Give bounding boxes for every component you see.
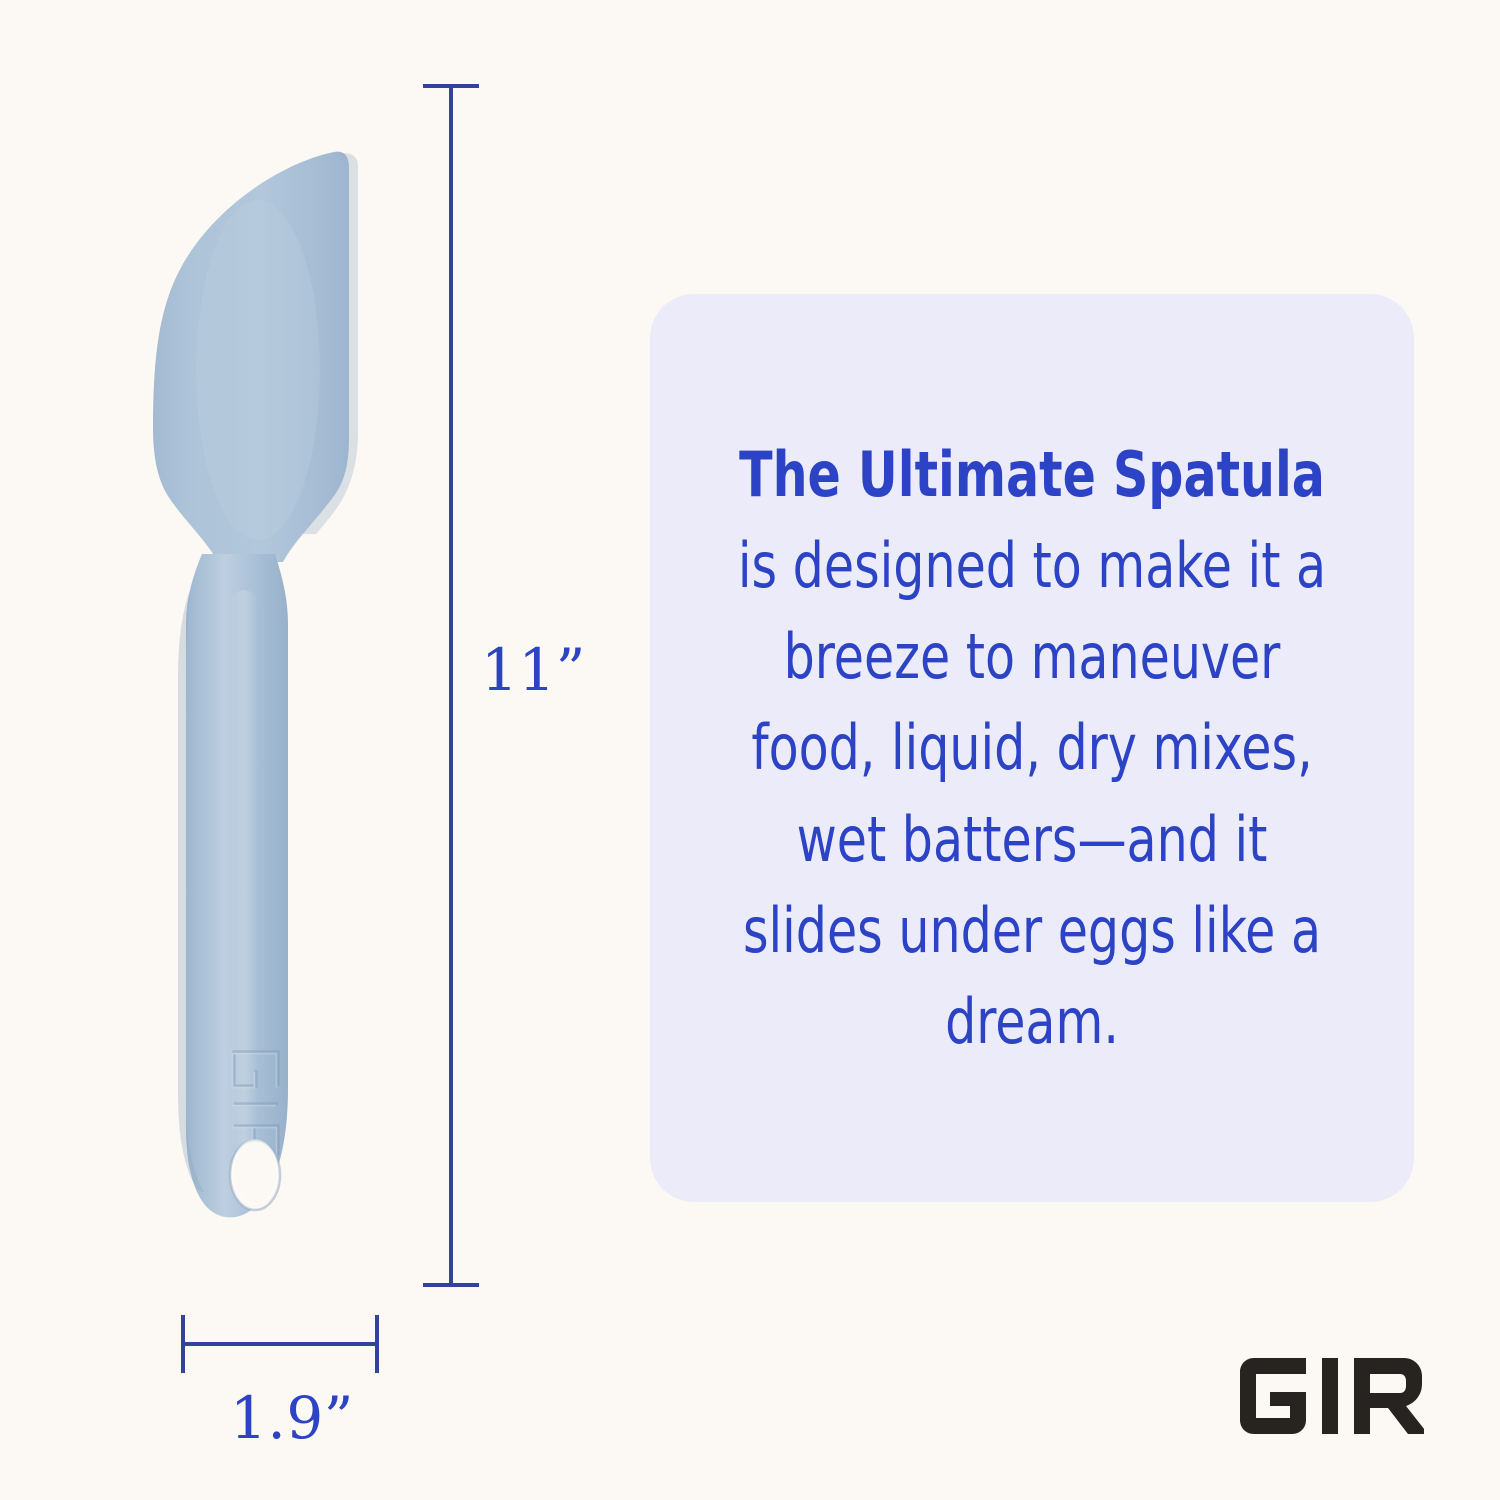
description-body: is designed to make it a breeze to maneu… bbox=[738, 529, 1326, 1058]
description-headline: The Ultimate Spatula bbox=[739, 438, 1325, 511]
product-infographic: 11” 1.9” The Ultimate Spatula is designe… bbox=[0, 0, 1500, 1500]
spatula-illustration bbox=[120, 120, 400, 1260]
description-paragraph: The Ultimate Spatula is designed to make… bbox=[735, 429, 1330, 1067]
spatula-head bbox=[153, 152, 358, 562]
width-dimension-label: 1.9” bbox=[230, 1384, 354, 1452]
description-card: The Ultimate Spatula is designed to make… bbox=[650, 294, 1414, 1202]
height-dimension-line bbox=[449, 85, 453, 1285]
height-dimension-label: 11” bbox=[481, 636, 586, 704]
height-dimension-cap-bottom bbox=[423, 1283, 479, 1287]
width-dimension-line bbox=[181, 1342, 379, 1346]
gir-logo bbox=[1240, 1358, 1424, 1434]
width-dimension-cap-right bbox=[375, 1315, 379, 1373]
spatula-handle bbox=[144, 554, 288, 1217]
hanging-hole bbox=[230, 1140, 280, 1210]
